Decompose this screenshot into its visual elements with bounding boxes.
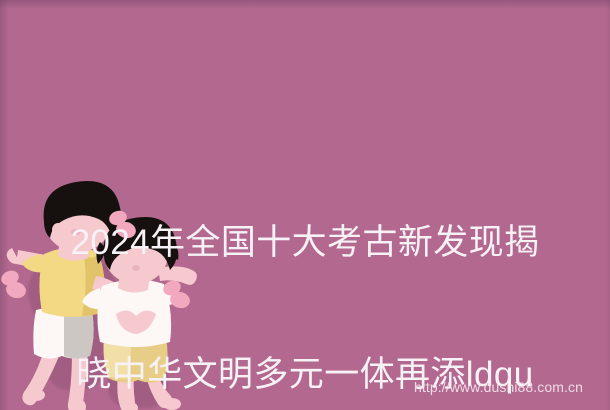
headline-text: 2024年全国十大考古新发现揭 晓中华文明多元一体再添ldqu: [0, 133, 610, 410]
article-cover-image: 2024年全国十大考古新发现揭 晓中华文明多元一体再添ldqu http://w…: [0, 0, 610, 410]
watermark-url: http://www.dushi88.com.cn: [414, 379, 583, 395]
headline-line-1: 2024年全国十大考古新发现揭: [0, 221, 610, 265]
